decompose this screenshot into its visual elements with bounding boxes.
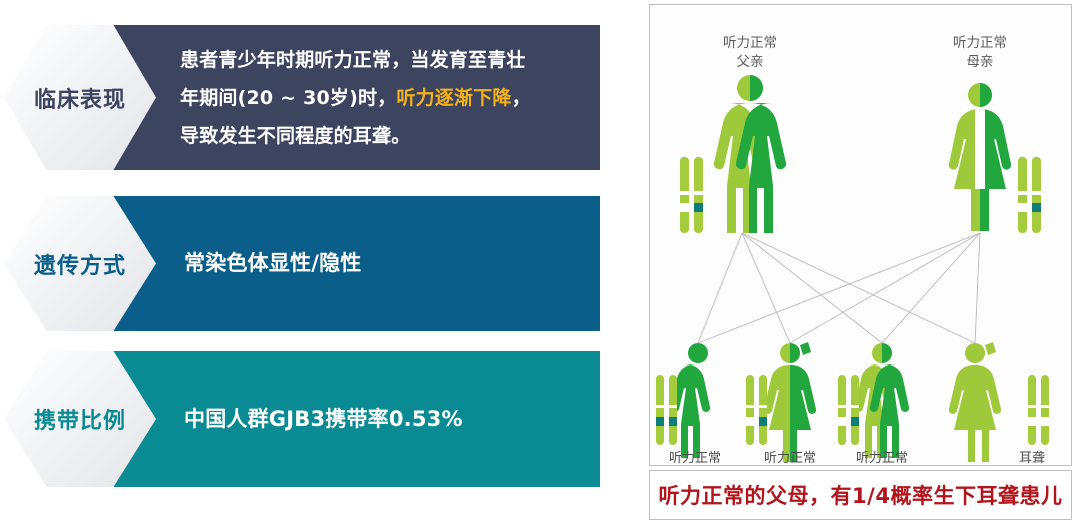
pedigree-node-father[interactable]: 听力正常 父亲	[680, 35, 786, 233]
banner-row-carrier: 中国人群GJB3携带率0.53% 携带比例	[0, 351, 640, 487]
father-figure	[714, 75, 786, 233]
child-2-figure	[764, 342, 816, 462]
banner-text-inheritance: 常染色体显性/隐性	[184, 243, 361, 284]
pedigree-caption: 听力正常的父母，有1/4概率生下耳聋患儿	[659, 480, 1063, 510]
pedigree-panel: 听力正常 父亲 听力正常	[649, 4, 1072, 466]
banner-row-inheritance: 常染色体显性/隐性 遗传方式	[0, 196, 640, 331]
father-label-line2: 父亲	[737, 54, 764, 70]
clinical-line-3: 导致发生不同程度的耳聋。	[180, 125, 410, 147]
child-2-label: 听力正常	[764, 451, 816, 465]
child-1-chromosomes	[656, 375, 677, 445]
child-3-figure	[855, 343, 909, 458]
clinical-line-2b: ，	[512, 87, 531, 109]
banner-text-carrier: 中国人群GJB3携带率0.53%	[184, 399, 463, 440]
child-4-chromosomes	[1028, 375, 1049, 445]
info-banner-stack: 患者青少年时期听力正常，当发育至青壮 年期间(20 ~ 30岁)时，听力逐渐下降…	[0, 0, 640, 524]
pedigree-node-child-1[interactable]: 听力正常	[656, 343, 721, 465]
child-4-label: 耳聋	[1019, 450, 1045, 465]
mother-label-line2: 母亲	[967, 54, 994, 70]
mother-label-line1: 听力正常	[953, 35, 1007, 51]
father-chromosomes	[680, 157, 703, 233]
father-label-line1: 听力正常	[723, 35, 777, 51]
child-4-figure	[949, 342, 1001, 462]
child-3-label: 听力正常	[856, 451, 908, 465]
clinical-highlight: 听力逐渐下降	[396, 87, 511, 109]
hex-label-clinical: 临床表现	[34, 82, 126, 114]
clinical-line-2a: 年期间(20 ~ 30岁)时，	[180, 87, 396, 109]
child-1-label: 听力正常	[669, 451, 721, 465]
banner-row-clinical: 患者青少年时期听力正常，当发育至青壮 年期间(20 ~ 30岁)时，听力逐渐下降…	[0, 25, 640, 170]
pedigree-diagram: 听力正常 父亲 听力正常	[650, 5, 1071, 465]
pedigree-node-child-4[interactable]: 耳聋	[949, 342, 1049, 465]
child-3-chromosomes	[838, 375, 859, 445]
hex-label-carrier: 携带比例	[34, 403, 126, 435]
pedigree-caption-box: 听力正常的父母，有1/4概率生下耳聋患儿	[649, 470, 1072, 520]
child-2-chromosomes	[746, 375, 767, 445]
mother-figure	[949, 83, 1011, 231]
inheritance-lines	[698, 233, 980, 343]
pedigree-node-child-2[interactable]: 听力正常	[746, 342, 816, 465]
banner-text-clinical: 患者青少年时期听力正常，当发育至青壮 年期间(20 ~ 30岁)时，听力逐渐下降…	[180, 41, 531, 155]
clinical-line-1: 患者青少年时期听力正常，当发育至青壮	[180, 49, 526, 71]
pedigree-node-mother[interactable]: 听力正常 母亲	[949, 35, 1041, 233]
hex-label-inheritance: 遗传方式	[34, 248, 126, 280]
mother-chromosomes	[1018, 157, 1041, 233]
pedigree-node-child-3[interactable]: 听力正常	[838, 343, 909, 465]
slide-root: 患者青少年时期听力正常，当发育至青壮 年期间(20 ~ 30岁)时，听力逐渐下降…	[0, 0, 1078, 524]
